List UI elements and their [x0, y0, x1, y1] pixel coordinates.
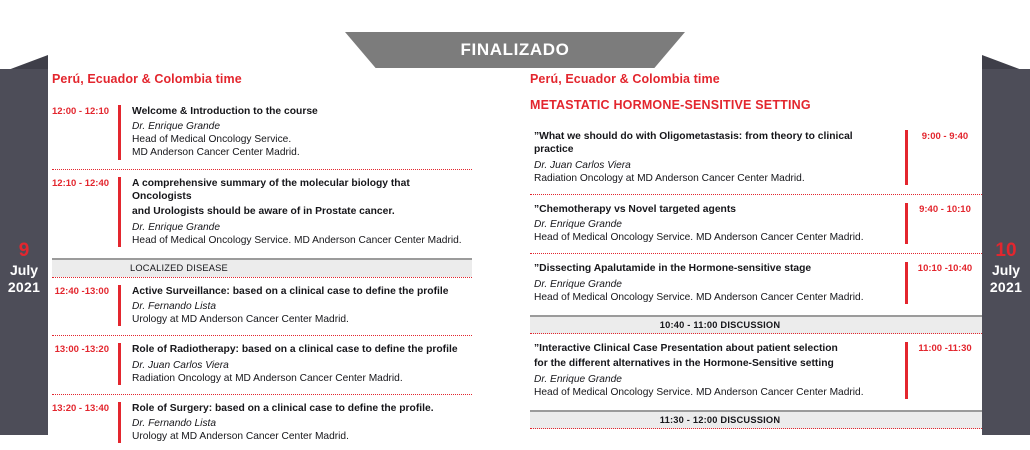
- row-title: ”What we should do with Oligometastasis:…: [534, 130, 894, 157]
- status-banner: FINALIZADO: [345, 32, 685, 68]
- row-affiliation: Urology at MD Anderson Cancer Center Mad…: [132, 430, 472, 443]
- schedule-row[interactable]: ”Interactive Clinical Case Presentation …: [530, 334, 982, 408]
- row-title: Active Surveillance: based on a clinical…: [132, 285, 472, 298]
- row-affiliation-2: MD Anderson Cancer Center Madrid.: [132, 146, 472, 159]
- row-title-2: for the different alternatives in the Ho…: [534, 357, 894, 370]
- discussion-band-2: 11:30 - 12:00 DISCUSSION: [530, 410, 982, 429]
- agenda-column-day-10: Perú, Ecuador & Colombia time METASTATIC…: [530, 72, 982, 429]
- row-time: 10:10 -10:40: [908, 262, 982, 303]
- category-band-localized-disease: LOCALIZED DISEASE: [52, 258, 472, 277]
- row-title: ”Chemotherapy vs Novel targeted agents: [534, 203, 894, 216]
- row-affiliation: Radiation Oncology at MD Anderson Cancer…: [534, 172, 894, 185]
- schedule-row[interactable]: 12:10 - 12:40 A comprehensive summary of…: [52, 169, 472, 256]
- row-speaker: Dr. Enrique Grande: [534, 278, 894, 291]
- date-right-year: 2021: [982, 279, 1030, 296]
- category-band-label: LOCALIZED DISEASE: [130, 263, 228, 273]
- row-speaker: Dr. Enrique Grande: [534, 373, 894, 386]
- discussion-band-1-label: 10:40 - 11:00 DISCUSSION: [660, 320, 781, 330]
- row-body: A comprehensive summary of the molecular…: [121, 177, 472, 247]
- discussion-band-1: 10:40 - 11:00 DISCUSSION: [530, 315, 982, 334]
- row-speaker: Dr. Juan Carlos Viera: [534, 159, 894, 172]
- status-banner-label: FINALIZADO: [345, 32, 685, 68]
- date-left-year: 2021: [0, 279, 48, 296]
- schedule-row[interactable]: ”Dissecting Apalutamide in the Hormone-s…: [530, 253, 982, 312]
- row-title: ”Dissecting Apalutamide in the Hormone-s…: [534, 262, 894, 275]
- row-speaker: Dr. Enrique Grande: [132, 221, 472, 234]
- schedule-list-left: 12:00 - 12:10 Welcome & Introduction to …: [52, 98, 472, 450]
- date-left-month: July: [0, 262, 48, 279]
- row-body: Role of Radiotherapy: based on a clinica…: [121, 343, 472, 384]
- row-affiliation: Head of Medical Oncology Service. MD And…: [534, 231, 894, 244]
- date-tab-left[interactable]: 9 July 2021: [0, 55, 48, 435]
- row-speaker: Dr. Juan Carlos Viera: [132, 359, 472, 372]
- date-tab-right-text: 10 July 2021: [982, 240, 1030, 295]
- row-title-2: and Urologists should be aware of in Pro…: [132, 205, 472, 218]
- row-title: ”Interactive Clinical Case Presentation …: [534, 342, 894, 355]
- row-title: Welcome & Introduction to the course: [132, 105, 472, 118]
- row-time: 12:40 -13:00: [52, 285, 118, 326]
- row-time: 13:00 -13:20: [52, 343, 118, 384]
- row-affiliation: Head of Medical Oncology Service. MD And…: [534, 386, 894, 399]
- schedule-row[interactable]: ”Chemotherapy vs Novel targeted agents D…: [530, 194, 982, 253]
- row-time: 11:00 -11:30: [908, 342, 982, 399]
- date-tab-right[interactable]: 10 July 2021: [982, 55, 1030, 435]
- row-time: 9:40 - 10:10: [908, 203, 982, 244]
- row-time: 12:10 - 12:40: [52, 177, 118, 247]
- row-speaker: Dr. Fernando Lista: [132, 417, 472, 430]
- schedule-row[interactable]: 12:00 - 12:10 Welcome & Introduction to …: [52, 98, 472, 169]
- row-time: 13:20 - 13:40: [52, 402, 118, 443]
- row-title: Role of Radiotherapy: based on a clinica…: [132, 343, 472, 356]
- timezone-title-left: Perú, Ecuador & Colombia time: [52, 72, 472, 86]
- row-body: ”Dissecting Apalutamide in the Hormone-s…: [530, 262, 905, 303]
- schedule-row[interactable]: 12:40 -13:00 Active Surveillance: based …: [52, 277, 472, 335]
- schedule-list-right: ”What we should do with Oligometastasis:…: [530, 122, 982, 429]
- date-right-month: July: [982, 262, 1030, 279]
- discussion-band-2-label: 11:30 - 12:00 DISCUSSION: [660, 415, 781, 425]
- row-time: 9:00 - 9:40: [908, 130, 982, 185]
- row-body: Active Surveillance: based on a clinical…: [121, 285, 472, 326]
- row-speaker: Dr. Enrique Grande: [132, 120, 472, 133]
- row-body: ”Interactive Clinical Case Presentation …: [530, 342, 905, 399]
- date-tab-left-text: 9 July 2021: [0, 240, 48, 295]
- schedule-row[interactable]: 13:20 - 13:40 Role of Surgery: based on …: [52, 394, 472, 450]
- date-right-day: 10: [982, 240, 1030, 262]
- date-left-day: 9: [0, 240, 48, 262]
- row-speaker: Dr. Fernando Lista: [132, 300, 472, 313]
- row-title: A comprehensive summary of the molecular…: [132, 177, 472, 204]
- row-body: Welcome & Introduction to the course Dr.…: [121, 105, 472, 160]
- row-body: Role of Surgery: based on a clinical cas…: [121, 402, 472, 443]
- agenda-column-day-9: Perú, Ecuador & Colombia time 12:00 - 12…: [52, 72, 472, 450]
- row-affiliation: Head of Medical Oncology Service.: [132, 133, 472, 146]
- agenda-page: FINALIZADO 9 July 2021 10 July 2021 Perú…: [0, 0, 1030, 450]
- schedule-row[interactable]: 13:00 -13:20 Role of Radiotherapy: based…: [52, 335, 472, 393]
- row-affiliation: Head of Medical Oncology Service. MD And…: [132, 234, 472, 247]
- row-affiliation: Head of Medical Oncology Service. MD And…: [534, 291, 894, 304]
- timezone-title-right: Perú, Ecuador & Colombia time: [530, 72, 982, 86]
- schedule-row[interactable]: ”What we should do with Oligometastasis:…: [530, 122, 982, 194]
- row-body: ”What we should do with Oligometastasis:…: [530, 130, 905, 185]
- section-title-metastatic: METASTATIC HORMONE-SENSITIVE SETTING: [530, 98, 982, 112]
- row-time: 12:00 - 12:10: [52, 105, 118, 160]
- row-affiliation: Urology at MD Anderson Cancer Center Mad…: [132, 313, 472, 326]
- row-title: Role of Surgery: based on a clinical cas…: [132, 402, 472, 415]
- row-affiliation: Radiation Oncology at MD Anderson Cancer…: [132, 372, 472, 385]
- row-body: ”Chemotherapy vs Novel targeted agents D…: [530, 203, 905, 244]
- row-speaker: Dr. Enrique Grande: [534, 218, 894, 231]
